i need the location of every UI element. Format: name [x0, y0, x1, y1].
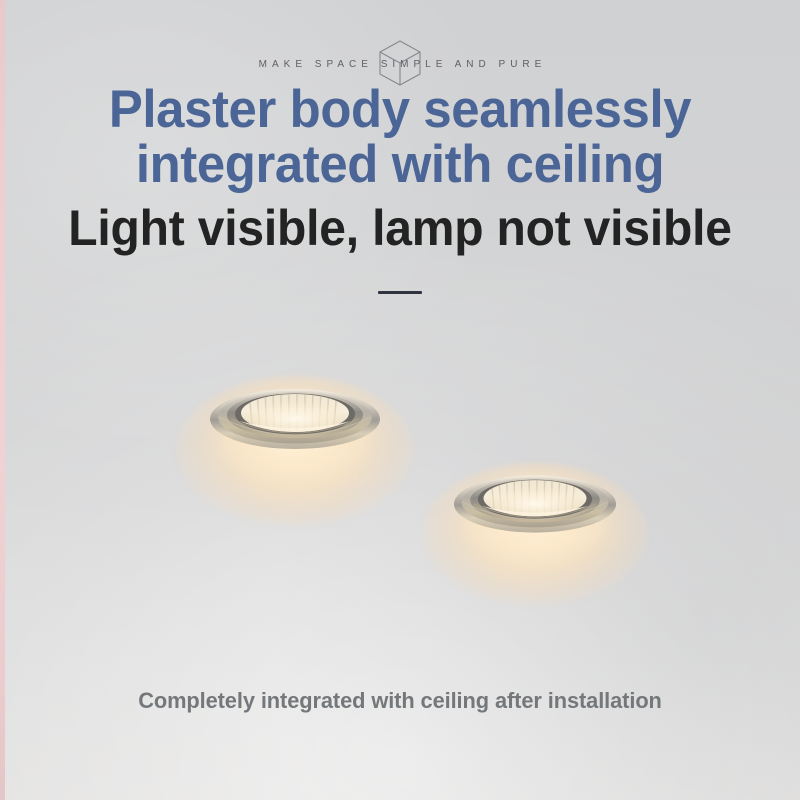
product-poster: MAKE SPACE SIMPLE AND PURE Plaster body …	[0, 0, 800, 800]
recessed-spotlight-lower	[420, 432, 650, 604]
bottom-caption: Completely integrated with ceiling after…	[12, 688, 788, 714]
recessed-spotlight-upper	[175, 345, 415, 525]
tagline-text: MAKE SPACE SIMPLE AND PURE	[254, 59, 547, 70]
headline-line-3: Light visible, lamp not visible	[16, 192, 784, 264]
section-divider	[378, 291, 422, 294]
spotlight-fixture-body	[209, 383, 381, 455]
headline-block: Plaster body seamlessly integrated with …	[0, 82, 800, 264]
spotlight-fixture-body	[453, 469, 617, 539]
brand-tagline-block: MAKE SPACE SIMPLE AND PURE	[0, 44, 800, 84]
headline-line-1: Plaster body seamlessly	[16, 82, 784, 137]
headline-line-2: integrated with ceiling	[16, 137, 784, 192]
